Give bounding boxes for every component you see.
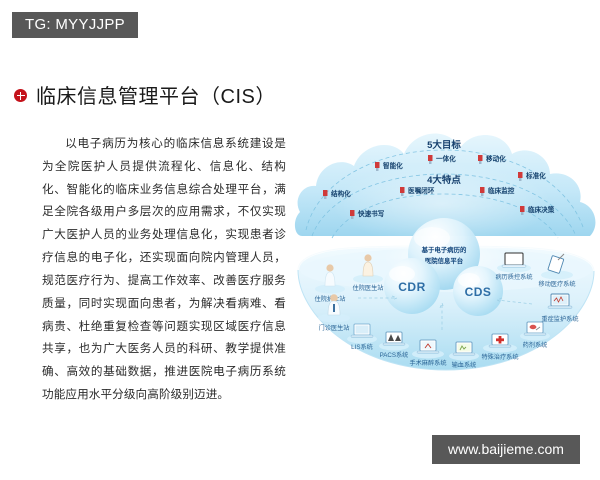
shelf-item-label: 移动医疗系统 [538,280,575,288]
cloud-node-label: 移动化 [486,154,506,163]
shelf-item-label: PACS系统 [380,351,409,359]
tg-tag-badge: TG: MYYJJPP [12,12,138,38]
cloud-node-label: 结构化 [331,189,351,198]
laptop-icon [453,342,475,355]
cloud-node-label: 智能化 [383,161,403,170]
cloud-node-label: 医嘱闭环 [408,186,435,195]
shelf-item-label: 病历质控系统 [495,273,532,281]
cdr-sphere-label: CDR [398,280,426,294]
shelf-item-label: 住院医生站 [353,284,384,292]
shelf-item-label: 门诊医生站 [319,324,350,332]
monitor-icon [524,322,546,335]
cloud-node-label: 一体化 [436,154,456,163]
monitor-icon [383,332,405,345]
cis-architecture-diagram: 5大目标 4大特点 智能化 一体化 移动化 [292,108,600,398]
cloud-node-label: 标准化 [525,171,546,180]
site-watermark: www.baijieme.com [432,435,580,464]
cloud-node-label: 临床监控 [488,186,515,195]
shelf-item-label: 药剂系统 [523,341,548,349]
nurse-icon [325,264,335,286]
shelf-item-label: 特殊治疗系统 [481,353,518,361]
monitor-icon [548,294,572,308]
shelf-item-label: LIS系统 [351,343,373,351]
cloud-node-label: 临床决策 [528,205,555,214]
cdr-sphere[interactable]: CDR [384,258,440,314]
shelf-item-label: 手术麻醉系统 [409,359,446,367]
laptop-icon [417,340,439,353]
page-title: 临床信息管理平台（CIS） [14,80,276,109]
core-platform-line1: 基于电子病历的 [421,245,467,254]
monitor-cross-icon [489,334,511,347]
shelf-item-label: 输血系统 [452,361,477,369]
cloud-heading-goals: 5大目标 [427,139,461,151]
cloud-heading-features: 4大特点 [427,174,461,186]
shelf-item-label: 住院护士站 [315,295,346,303]
laptop-icon [351,324,373,337]
slide-canvas: TG: MYYJJPP 临床信息管理平台（CIS） 以电子病历为核心的临床信息系… [0,0,600,480]
body-paragraph: 以电子病历为核心的临床信息系统建设是为全院医护人员提供流程化、信息化、结构化、智… [42,133,286,407]
doctor-icon [363,254,373,276]
shelf-item-label: 重症监护系统 [541,315,578,323]
cloud-node-label: 快速书写 [358,209,385,218]
core-platform-line2: 医院信息平台 [425,256,464,265]
page-title-text: 临床信息管理平台（CIS） [36,80,276,109]
laptop-icon [502,253,526,267]
medical-cross-icon [14,89,27,102]
cds-sphere-label: CDS [465,285,492,299]
